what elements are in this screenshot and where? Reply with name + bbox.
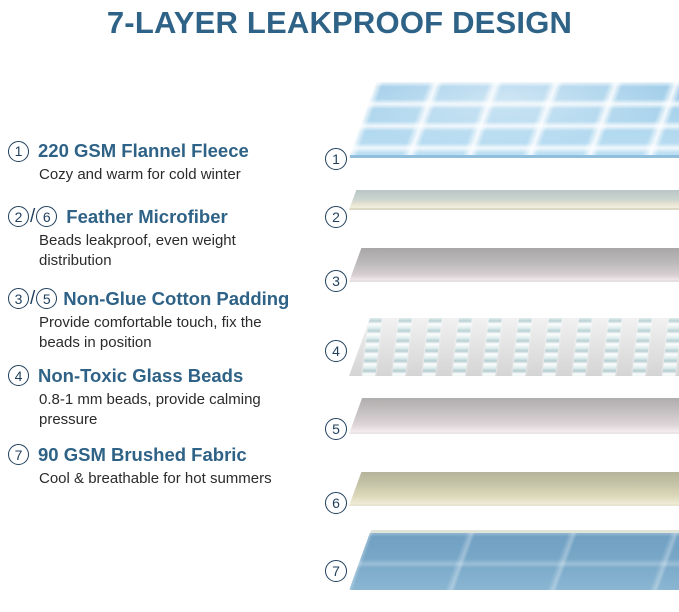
- layer-number-badge: 3: [325, 270, 347, 292]
- list-item: 1 220 GSM Flannel Fleece Cozy and warm f…: [8, 140, 330, 185]
- feature-description: 0.8-1 mm beads, provide calming pressure: [39, 390, 305, 430]
- feature-title: 220 GSM Flannel Fleece: [38, 140, 249, 162]
- feature-list: 1 220 GSM Flannel Fleece Cozy and warm f…: [8, 140, 330, 502]
- page-title: 7-LAYER LEAKPROOF DESIGN: [0, 0, 679, 46]
- layer-sheet-glass-beads: [349, 318, 679, 376]
- layer-sheet-brushed-fabric: [349, 530, 679, 590]
- feature-title: Non-Toxic Glass Beads: [38, 365, 243, 387]
- layer-stack-diagram: 1 2 3 4 5 6 7: [325, 60, 679, 612]
- list-item: 3 / 5 Non-Glue Cotton Padding Provide co…: [8, 288, 330, 353]
- feature-title: 90 GSM Brushed Fabric: [38, 444, 247, 466]
- layer-sheet-microfiber-bottom: [349, 472, 679, 506]
- layer-number-badge: 2: [325, 206, 347, 228]
- layer-number-badge: 4: [325, 340, 347, 362]
- layer-number-badge: 6: [325, 492, 347, 514]
- layer-sheet-cotton-padding-top: [349, 248, 679, 282]
- feature-heading: 3 / 5 Non-Glue Cotton Padding: [8, 288, 330, 310]
- layer-number-badge: 1: [325, 148, 347, 170]
- feature-description: Beads leakproof, even weight distributio…: [39, 231, 291, 271]
- layer-number-badge: 5: [36, 288, 57, 309]
- layer-number-badge: 1: [8, 141, 29, 162]
- layer-number-badge: 7: [325, 560, 347, 582]
- layer-number-badge: 3: [8, 288, 29, 309]
- layer-number-badge: 6: [36, 206, 57, 227]
- layer-sheet-flannel-fleece: [349, 82, 679, 158]
- list-item: 7 90 GSM Brushed Fabric Cool & breathabl…: [8, 444, 330, 489]
- layer-number-badge: 7: [8, 444, 29, 465]
- layer-number-badge: 2: [8, 206, 29, 227]
- feature-title: Non-Glue Cotton Padding: [63, 288, 289, 310]
- feature-heading: 1 220 GSM Flannel Fleece: [8, 140, 330, 162]
- list-item: 2 / 6 Feather Microfiber Beads leakproof…: [8, 206, 330, 271]
- layer-number-badge: 4: [8, 365, 29, 386]
- layer-sheet-microfiber-top: [349, 190, 679, 210]
- feature-heading: 4 Non-Toxic Glass Beads: [8, 365, 330, 387]
- feature-title: Feather Microfiber: [66, 206, 227, 228]
- feature-heading: 7 90 GSM Brushed Fabric: [8, 444, 330, 466]
- badge-separator: /: [30, 288, 35, 310]
- feature-description: Cool & breathable for hot summers: [39, 469, 311, 489]
- feature-heading: 2 / 6 Feather Microfiber: [8, 206, 330, 228]
- layer-sheet-cotton-padding-bottom: [349, 398, 679, 434]
- list-item: 4 Non-Toxic Glass Beads 0.8-1 mm beads, …: [8, 365, 330, 430]
- badge-separator: /: [30, 206, 35, 228]
- layer-number-badge: 5: [325, 418, 347, 440]
- feature-description: Provide comfortable touch, fix the beads…: [39, 313, 279, 353]
- feature-description: Cozy and warm for cold winter: [39, 165, 311, 185]
